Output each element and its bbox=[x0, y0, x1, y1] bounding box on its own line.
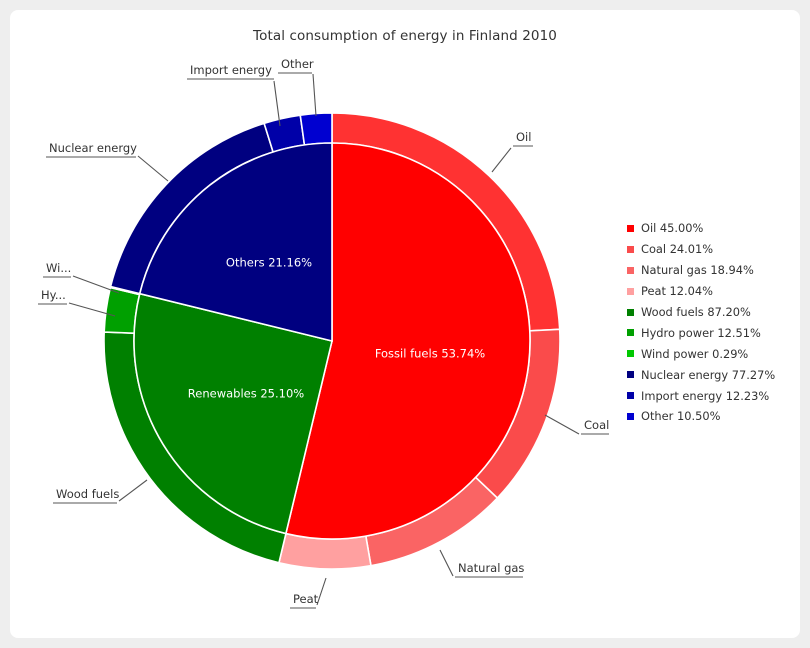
callout-leader-line bbox=[492, 148, 511, 172]
legend-item[interactable]: Wood fuels 87.20% bbox=[627, 302, 797, 323]
callout-leader-line bbox=[545, 415, 579, 434]
legend-item-label: Import energy 12.23% bbox=[641, 389, 769, 403]
legend-swatch-icon bbox=[627, 288, 634, 295]
legend-item-label: Wood fuels 87.20% bbox=[641, 305, 751, 319]
legend-item[interactable]: Natural gas 18.94% bbox=[627, 260, 797, 281]
chart-legend: Oil 45.00%Coal 24.01%Natural gas 18.94%P… bbox=[627, 218, 797, 427]
legend-item[interactable]: Nuclear energy 77.27% bbox=[627, 364, 797, 385]
callout-label[interactable]: Oil bbox=[516, 130, 531, 144]
legend-swatch-icon bbox=[627, 350, 634, 357]
legend-swatch-icon bbox=[627, 371, 634, 378]
callout-label[interactable]: Import energy bbox=[190, 63, 272, 77]
pie-inner-label: Fossil fuels 53.74% bbox=[375, 347, 485, 361]
legend-item[interactable]: Hydro power 12.51% bbox=[627, 322, 797, 343]
pie-inner-label: Others 21.16% bbox=[226, 256, 312, 270]
legend-item-label: Nuclear energy 77.27% bbox=[641, 368, 775, 382]
pie-inner-label: Renewables 25.10% bbox=[188, 387, 305, 401]
legend-item-label: Wind power 0.29% bbox=[641, 347, 748, 361]
legend-item-label: Other 10.50% bbox=[641, 409, 720, 423]
callout-label[interactable]: Other bbox=[281, 57, 314, 71]
callout-label[interactable]: Peat bbox=[293, 592, 319, 606]
legend-item[interactable]: Wind power 0.29% bbox=[627, 343, 797, 364]
callout-label[interactable]: Wood fuels bbox=[56, 487, 119, 501]
legend-swatch-icon bbox=[627, 413, 634, 420]
legend-swatch-icon bbox=[627, 246, 634, 253]
chart-page: Total consumption of energy in Finland 2… bbox=[0, 0, 810, 648]
legend-item-label: Coal 24.01% bbox=[641, 242, 713, 256]
pie-slice-outer[interactable] bbox=[300, 113, 332, 145]
legend-item-label: Oil 45.00% bbox=[641, 221, 703, 235]
legend-item[interactable]: Import energy 12.23% bbox=[627, 385, 797, 406]
callout-leader-line bbox=[138, 156, 168, 181]
callout-leader-line bbox=[440, 550, 453, 576]
legend-item[interactable]: Peat 12.04% bbox=[627, 281, 797, 302]
callout-label[interactable]: Wi... bbox=[46, 261, 71, 275]
callout-leader-line bbox=[313, 74, 316, 116]
chart-card: Total consumption of energy in Finland 2… bbox=[10, 10, 800, 638]
legend-item[interactable]: Coal 24.01% bbox=[627, 239, 797, 260]
inner-ring bbox=[134, 143, 530, 539]
callout-label[interactable]: Coal bbox=[584, 418, 609, 432]
legend-swatch-icon bbox=[627, 267, 634, 274]
callout-leader-line bbox=[119, 480, 147, 501]
callout-label[interactable]: Nuclear energy bbox=[49, 141, 137, 155]
legend-item-label: Peat 12.04% bbox=[641, 284, 713, 298]
legend-item[interactable]: Other 10.50% bbox=[627, 406, 797, 427]
legend-swatch-icon bbox=[627, 392, 634, 399]
callout-label[interactable]: Hy... bbox=[41, 288, 66, 302]
legend-item-label: Hydro power 12.51% bbox=[641, 326, 761, 340]
legend-swatch-icon bbox=[627, 225, 634, 232]
legend-item-label: Natural gas 18.94% bbox=[641, 263, 754, 277]
callout-leader-line bbox=[317, 578, 326, 605]
callout-label[interactable]: Natural gas bbox=[458, 561, 524, 575]
legend-swatch-icon bbox=[627, 329, 634, 336]
legend-item[interactable]: Oil 45.00% bbox=[627, 218, 797, 239]
legend-swatch-icon bbox=[627, 309, 634, 316]
